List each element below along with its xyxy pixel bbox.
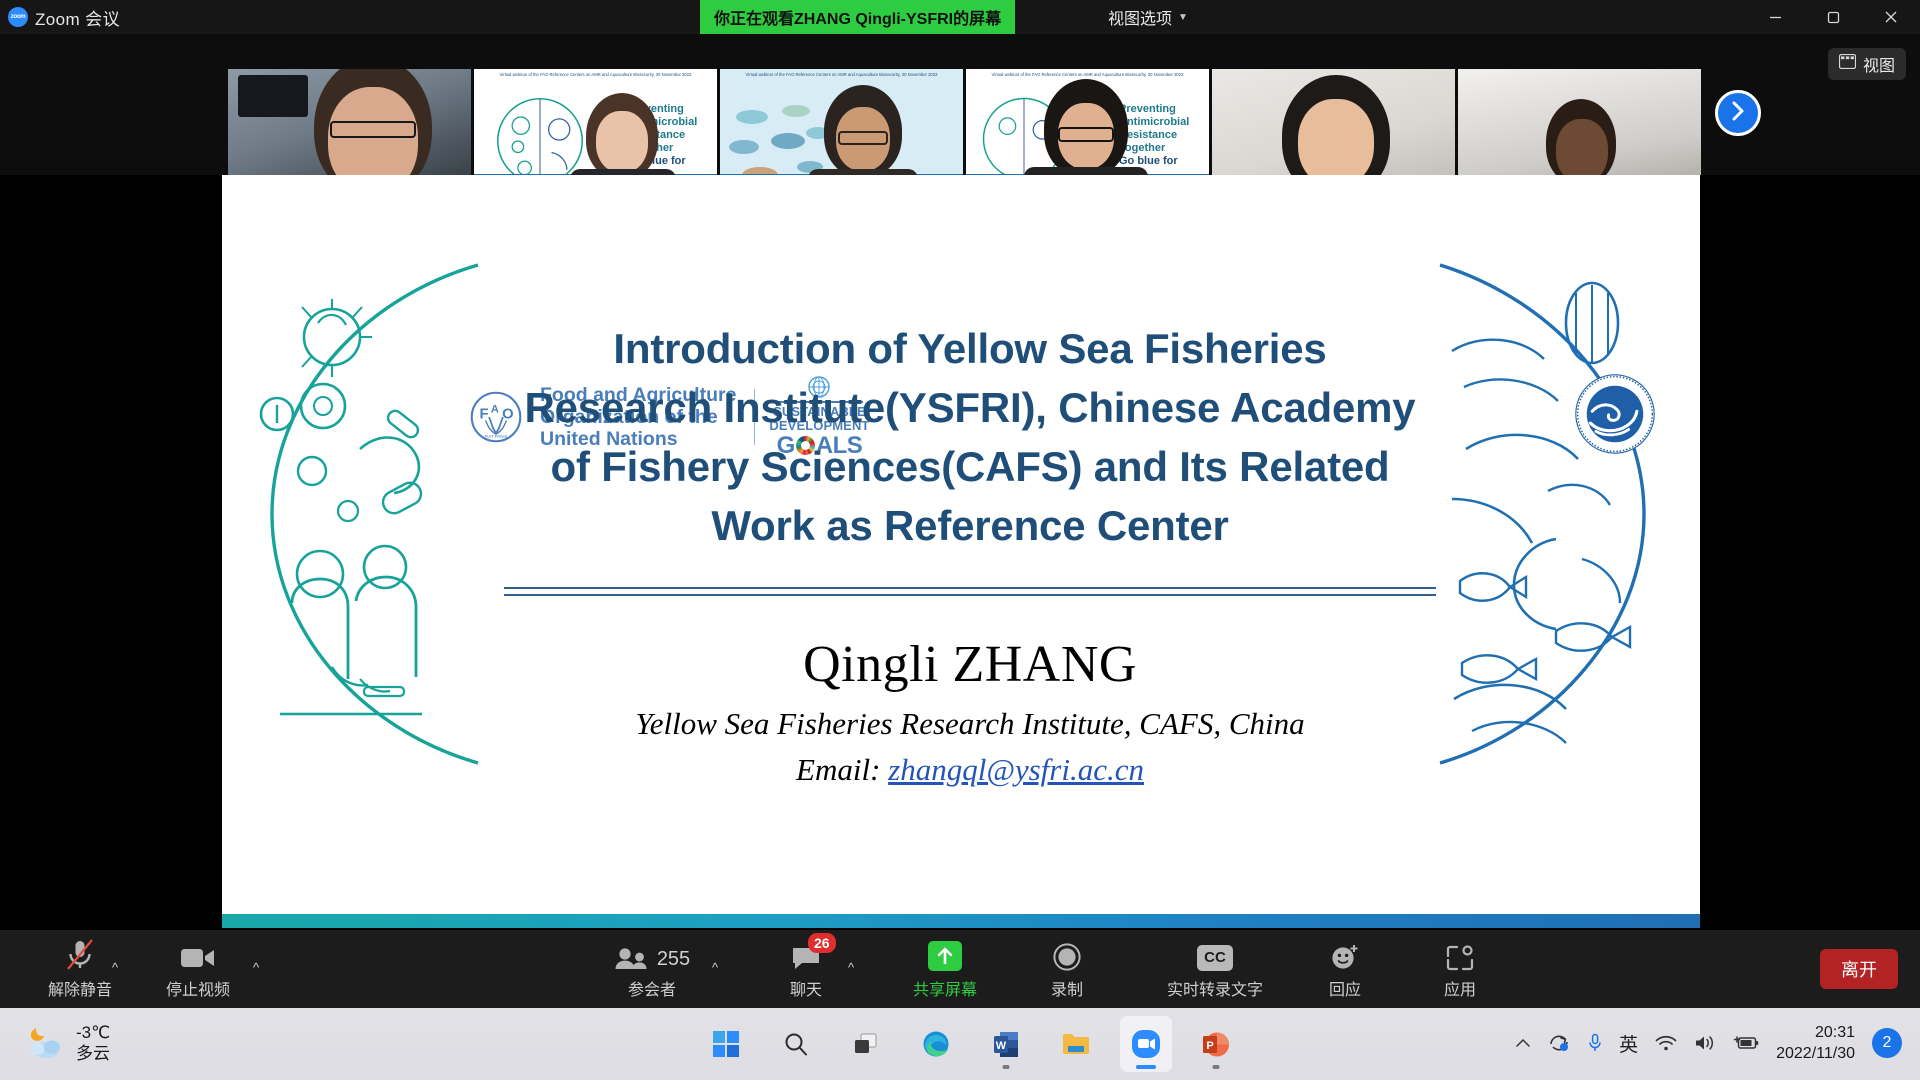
weather-temp: -3℃ <box>76 1022 110 1043</box>
stop-video-label: 停止视频 <box>166 976 230 1000</box>
reactions-button[interactable]: 回应 <box>1300 935 1390 1003</box>
record-label: 录制 <box>1051 976 1083 1000</box>
app-active-indicator <box>1136 1065 1156 1069</box>
participants-button[interactable]: 255 参会者 <box>597 935 707 1003</box>
slide-divider-rule <box>504 587 1436 596</box>
thumb-slide-header: Virtual webinar of the FAO Reference Cen… <box>478 72 713 90</box>
audio-options-caret-icon[interactable]: ^ <box>112 960 118 975</box>
chat-label: 聊天 <box>790 976 822 1000</box>
presenter-block: Qingli ZHANG Yellow Sea Fisheries Resear… <box>470 635 1470 788</box>
presentation-slide: F A O FIAT PANIS Food and Agriculture Or… <box>222 175 1700 925</box>
presenter-name: Qingli ZHANG <box>470 635 1470 694</box>
reactions-icon <box>1330 939 1360 971</box>
clock-time: 20:31 <box>1776 1022 1855 1043</box>
close-button[interactable] <box>1862 0 1920 34</box>
battery-charging-icon[interactable] <box>1733 1035 1759 1051</box>
svg-text:W: W <box>995 1040 1006 1052</box>
video-bg-object <box>238 75 308 117</box>
minimize-button[interactable] <box>1746 0 1804 34</box>
word-icon[interactable]: W <box>980 1016 1032 1072</box>
ime-language-indicator[interactable]: 英 <box>1619 1030 1638 1057</box>
apps-icon <box>1446 939 1474 971</box>
chat-unread-badge: 26 <box>808 933 836 953</box>
view-options-button[interactable]: 视图选项 ▼ <box>1092 0 1204 34</box>
file-explorer-icon[interactable] <box>1050 1016 1102 1072</box>
chevron-down-icon: ▼ <box>1178 12 1188 23</box>
volume-icon[interactable] <box>1694 1034 1716 1052</box>
cc-icon: CC <box>1197 939 1233 971</box>
screen-share-banner: 你正在观看ZHANG Qingli-YSFRI的屏幕 <box>700 0 1015 34</box>
record-icon <box>1053 939 1081 971</box>
participant-count: 255 <box>657 948 690 971</box>
powerpoint-icon[interactable]: P <box>1190 1016 1242 1072</box>
task-view-icon[interactable] <box>840 1016 892 1072</box>
slide-footer-gradient-bar <box>222 914 1700 928</box>
email-link[interactable]: zhangql@ysfri.ac.cn <box>888 752 1144 787</box>
window-title-bar: zoom Zoom 会议 你正在观看ZHANG Qingli-YSFRI的屏幕 … <box>0 0 1920 34</box>
weather-widget[interactable]: -3℃ 多云 <box>24 1022 110 1064</box>
weather-cloudy-night-icon <box>24 1023 64 1063</box>
clock-date: 2022/11/30 <box>1776 1043 1855 1064</box>
onedrive-sync-icon[interactable] <box>1547 1033 1571 1053</box>
thumb-slide-header: Virtual webinar of the FAO Reference Cen… <box>724 72 959 90</box>
share-screen-icon <box>928 939 962 971</box>
participant-filmstrip: LI Jie-YSFRI Virtual webinar of the FAO … <box>0 34 1920 175</box>
svg-text:P: P <box>1206 1040 1213 1052</box>
presenter-affiliation: Yellow Sea Fisheries Research Institute,… <box>470 706 1470 742</box>
person-face <box>596 111 648 173</box>
view-button-label: 视图 <box>1863 52 1895 76</box>
mic-muted-icon <box>65 939 95 971</box>
video-options-caret-icon[interactable]: ^ <box>253 960 259 975</box>
chevron-right-icon <box>1730 100 1746 127</box>
person-face <box>1298 99 1374 187</box>
window-controls <box>1746 0 1920 34</box>
app-running-indicator <box>1003 1065 1010 1069</box>
participants-caret-icon[interactable]: ^ <box>712 960 718 975</box>
taskbar-app-list: W P <box>700 1016 1242 1072</box>
reactions-label: 回应 <box>1329 976 1361 1000</box>
taskbar-clock[interactable]: 20:31 2022/11/30 <box>1776 1022 1855 1064</box>
live-transcript-button[interactable]: CC 实时转录文字 <box>1140 935 1290 1003</box>
ysfri-logo-icon <box>1574 373 1656 455</box>
search-icon[interactable] <box>770 1016 822 1072</box>
meeting-toolbar: 解除静音 ^ 停止视频 ^ 255 参会者 ^ 26 聊天 ^ 共享屏幕 <box>0 930 1920 1008</box>
edge-icon[interactable] <box>910 1016 962 1072</box>
grid-view-icon <box>1839 54 1856 74</box>
zoom-icon[interactable] <box>1120 1016 1172 1072</box>
participants-label: 参会者 <box>628 976 676 1000</box>
window-title: Zoom 会议 <box>35 5 120 30</box>
shared-screen-stage: F A O FIAT PANIS Food and Agriculture Or… <box>0 175 1920 930</box>
tray-expand-icon[interactable] <box>1516 1038 1530 1048</box>
weather-text: -3℃ 多云 <box>76 1022 110 1064</box>
maximize-button[interactable] <box>1804 0 1862 34</box>
video-icon <box>180 939 216 971</box>
windows-taskbar: -3℃ 多云 W P <box>0 1008 1920 1080</box>
amr-left-illustration <box>222 259 510 769</box>
apps-button[interactable]: 应用 <box>1415 935 1505 1003</box>
person-glasses <box>838 131 888 145</box>
stop-video-button[interactable]: 停止视频 <box>150 935 246 1003</box>
live-transcript-label: 实时转录文字 <box>1167 976 1263 1000</box>
person-face <box>1556 119 1608 183</box>
email-label: Email: <box>796 752 880 787</box>
weather-desc: 多云 <box>76 1043 110 1064</box>
chat-button[interactable]: 26 聊天 <box>760 935 852 1003</box>
leave-meeting-button[interactable]: 离开 <box>1820 949 1898 989</box>
person-glasses <box>330 121 416 138</box>
chat-caret-icon[interactable]: ^ <box>848 960 854 975</box>
share-screen-button[interactable]: 共享屏幕 <box>890 935 1000 1003</box>
view-options-label: 视图选项 <box>1108 5 1172 29</box>
record-button[interactable]: 录制 <box>1022 935 1112 1003</box>
start-button[interactable] <box>700 1016 752 1072</box>
microphone-icon[interactable] <box>1588 1033 1602 1053</box>
zoom-logo-icon: zoom <box>8 7 28 27</box>
unmute-label: 解除静音 <box>48 976 112 1000</box>
system-tray: 英 20:31 2022/11/30 2 <box>1516 1022 1902 1064</box>
apps-label: 应用 <box>1444 976 1476 1000</box>
view-layout-button[interactable]: 视图 <box>1828 48 1906 80</box>
wifi-icon[interactable] <box>1655 1034 1677 1052</box>
participants-icon: 255 <box>614 939 690 971</box>
chat-icon: 26 <box>791 939 821 971</box>
next-page-button[interactable] <box>1715 90 1761 136</box>
share-screen-label: 共享屏幕 <box>913 976 977 1000</box>
person-glasses <box>1058 127 1114 142</box>
presenter-email-line: Email: zhangql@ysfri.ac.cn <box>470 752 1470 788</box>
app-running-indicator <box>1213 1065 1220 1069</box>
slide-title: Introduction of Yellow Sea Fisheries Res… <box>470 319 1470 555</box>
notification-badge[interactable]: 2 <box>1872 1028 1902 1058</box>
